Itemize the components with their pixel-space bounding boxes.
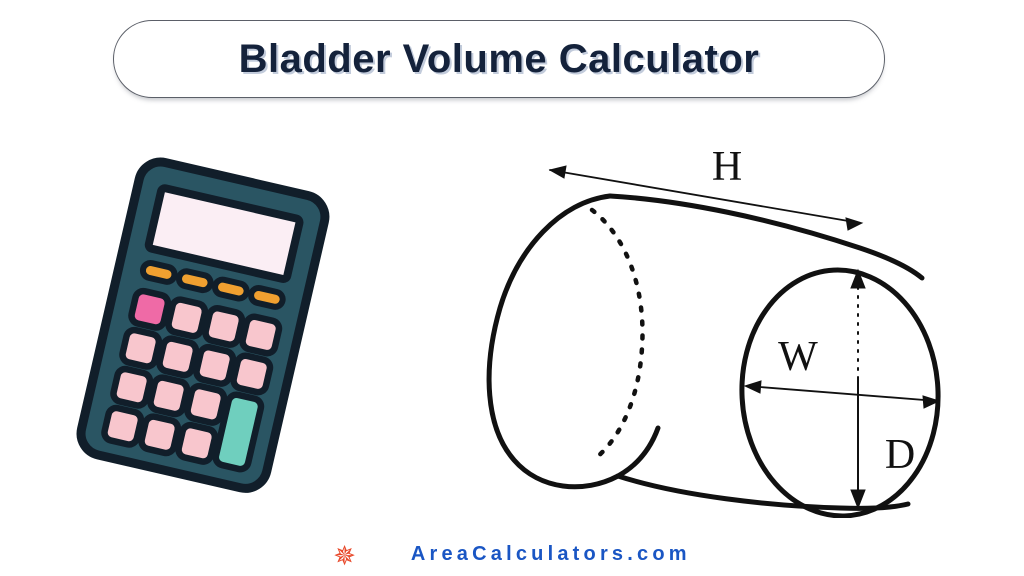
key	[195, 346, 235, 386]
key	[204, 307, 244, 347]
d-arrow-head-bottom	[851, 490, 865, 508]
key	[232, 354, 272, 394]
cylinder-hidden-curve	[592, 210, 643, 458]
function-key	[214, 278, 249, 300]
site-name[interactable]: AreaCalculators.com	[411, 543, 691, 566]
cylinder-left-cap	[489, 196, 618, 487]
key	[167, 298, 207, 338]
h-arrow-head-right	[846, 218, 862, 230]
cylinder-right-cap	[736, 265, 945, 518]
footer: ✵ AreaCalculators.com	[0, 533, 1024, 576]
h-arrow-head-left	[550, 166, 566, 178]
function-key	[141, 262, 176, 284]
key	[121, 329, 161, 369]
page-root: Bladder Volume Calculator	[0, 0, 1024, 576]
key	[186, 385, 226, 425]
page-title: Bladder Volume Calculator	[239, 37, 760, 82]
function-key	[177, 270, 212, 292]
key	[103, 406, 143, 446]
h-label: H	[712, 144, 742, 190]
key	[177, 424, 217, 464]
key	[158, 337, 198, 377]
accent-key	[130, 290, 170, 330]
asterisk-icon: ✵	[333, 543, 356, 570]
key	[149, 376, 189, 416]
cylinder-top-edge	[610, 196, 922, 278]
title-card: Bladder Volume Calculator	[113, 20, 885, 98]
key	[241, 315, 281, 355]
cylinder-left-cap-lower	[618, 428, 658, 476]
w-dimension-line	[747, 386, 937, 401]
w-arrow-head-left	[745, 381, 761, 393]
calculator-illustration	[52, 145, 352, 505]
function-key	[250, 286, 285, 308]
key	[112, 367, 152, 407]
key	[140, 415, 180, 455]
cylinder-dimension-diagram: H W D	[440, 138, 985, 518]
d-label: D	[885, 432, 915, 478]
w-label: W	[778, 334, 818, 380]
